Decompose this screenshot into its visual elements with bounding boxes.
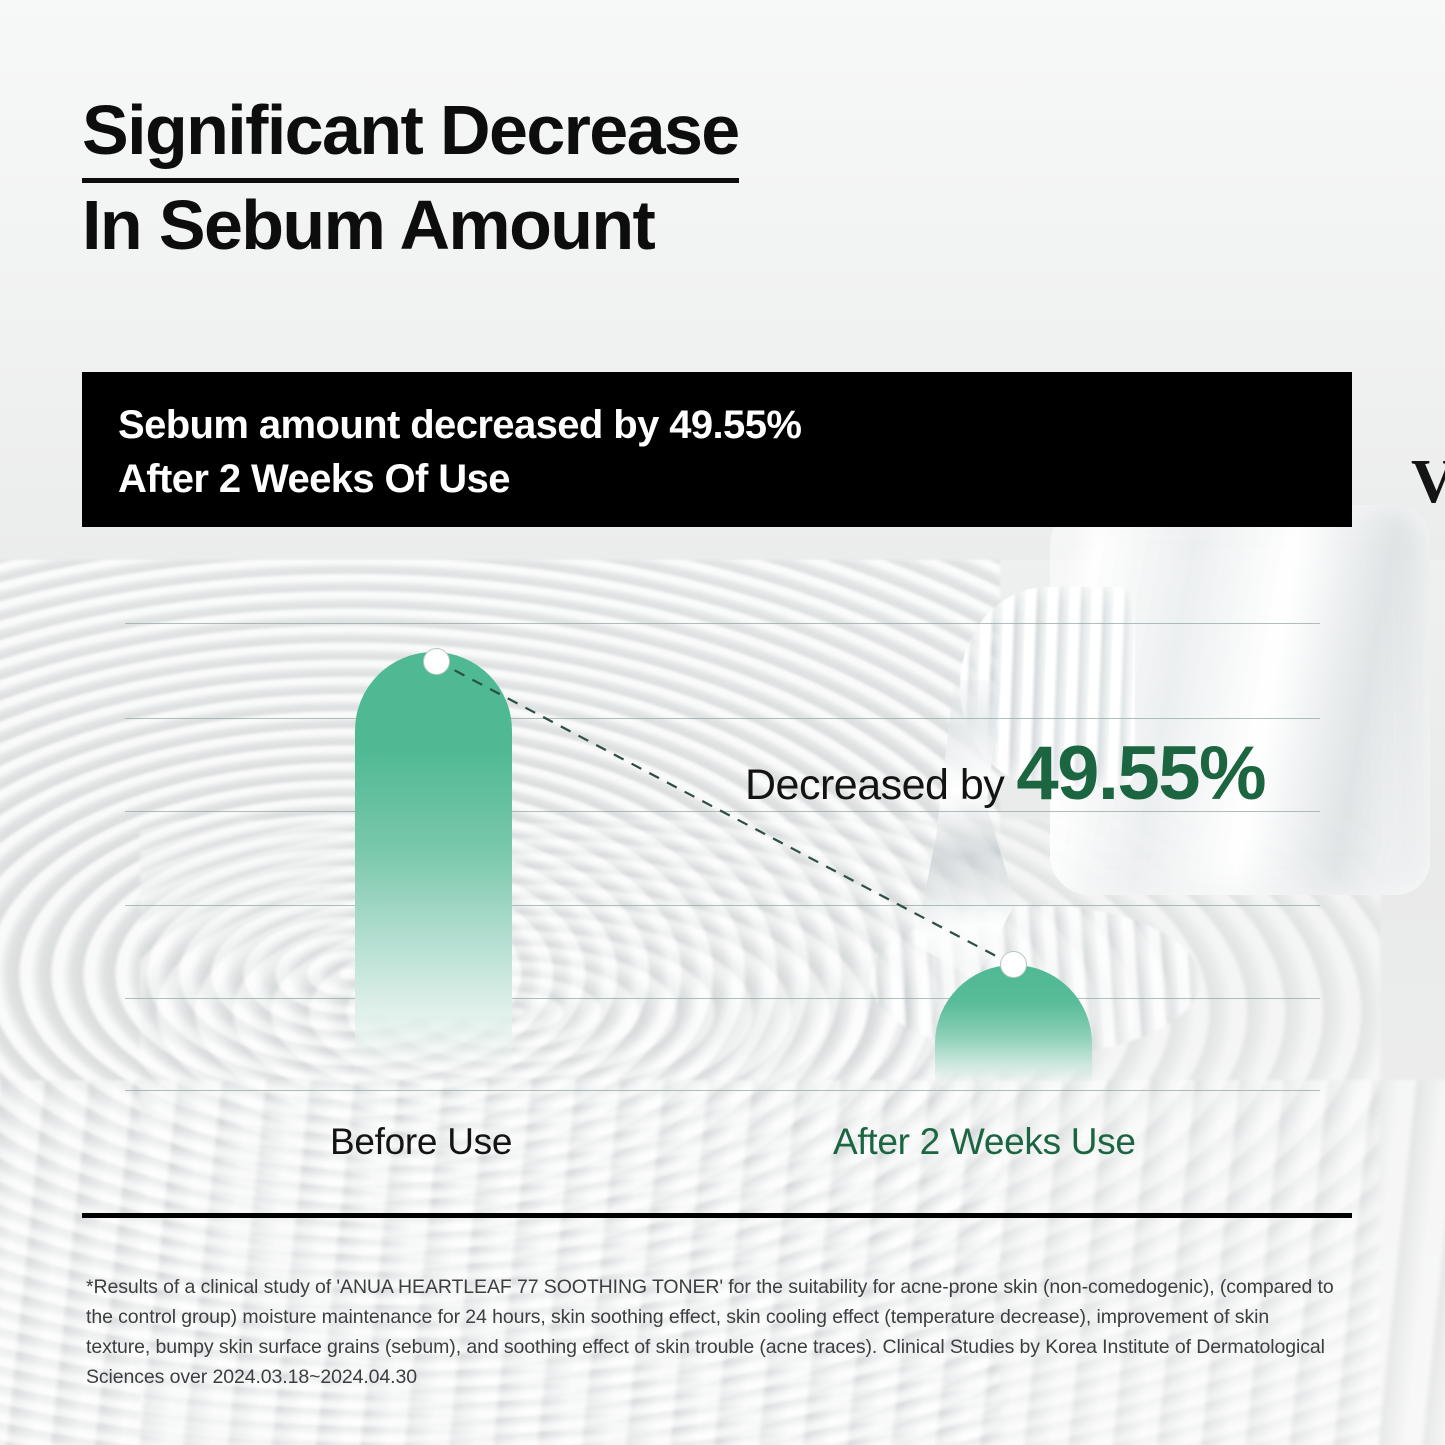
clinical-study-footnote: *Results of a clinical study of 'ANUA HE…	[86, 1272, 1336, 1392]
page-title-line-2: In Sebum Amount	[82, 183, 1082, 267]
decrease-callout-label: Decreased by	[745, 758, 1004, 812]
water-splash	[870, 905, 1200, 1055]
result-banner: Sebum amount decreased by 49.55% After 2…	[82, 372, 1352, 527]
footnote-divider	[82, 1213, 1352, 1218]
page-title: Significant Decrease In Sebum Amount	[82, 88, 1082, 267]
decrease-callout-value: 49.55%	[1016, 736, 1265, 812]
result-banner-line-2: After 2 Weeks Of Use	[118, 452, 1352, 506]
sebum-decrease-infographic: Significant Decrease In Sebum Amount Seb…	[0, 0, 1445, 1445]
result-banner-line-1: Sebum amount decreased by 49.55%	[118, 398, 1352, 452]
decrease-callout: Decreased by 49.55%	[745, 736, 1265, 812]
page-title-line-1: Significant Decrease	[82, 88, 739, 183]
cropped-edge-mark: V	[1411, 450, 1445, 520]
